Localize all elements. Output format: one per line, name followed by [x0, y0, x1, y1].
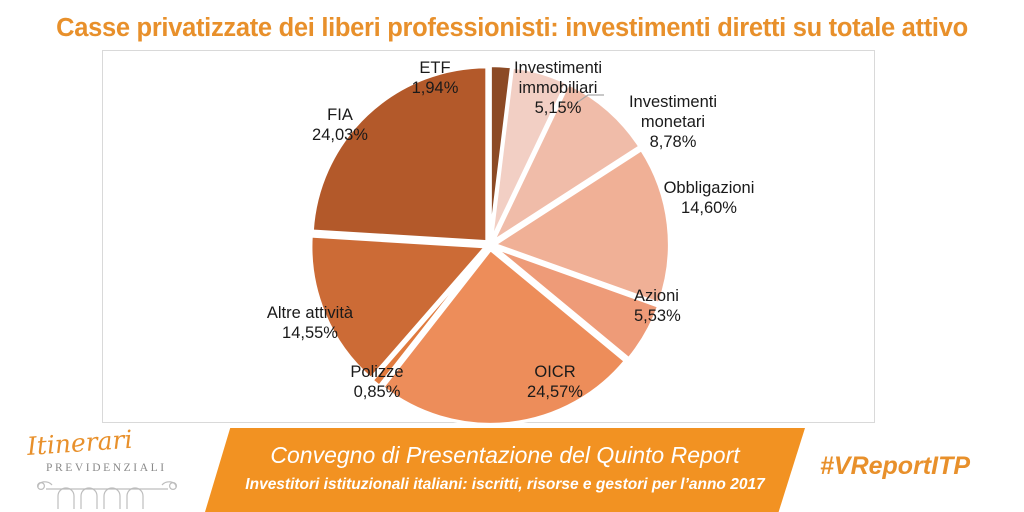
pie-label-obbligazioni-value: 14,60%	[638, 198, 780, 218]
banner-title: Convegno di Presentazione del Quinto Rep…	[205, 442, 805, 469]
logo-subtitle: PREVIDENZIALI	[46, 462, 167, 474]
pie-label-etf-name: ETF	[392, 58, 478, 78]
pie-label-polizze-value: 0,85%	[322, 382, 432, 402]
pie-label-oicr-value: 24,57%	[500, 382, 610, 402]
page-title: Casse privatizzate dei liberi profession…	[0, 14, 1024, 43]
pie-label-obbligazioni: Obbligazioni 14,60%	[638, 178, 780, 218]
pie-label-oicr: OICR 24,57%	[500, 362, 610, 402]
pie-label-fia-value: 24,03%	[288, 125, 392, 145]
logo-wordmark: Itinerari	[26, 425, 133, 461]
pie-label-azioni: Azioni 5,53%	[634, 286, 754, 326]
pie-label-investimenti-monetari: Investimenti monetari 8,78%	[598, 92, 748, 152]
event-hashtag: #VReportITP	[820, 452, 970, 481]
pie-label-azioni-value: 5,53%	[634, 306, 754, 326]
pie-label-fia-name: FIA	[288, 105, 392, 125]
pie-label-monetari-name2: monetari	[598, 112, 748, 132]
pie-label-fia: FIA 24,03%	[288, 105, 392, 145]
logo-colonnade-icon	[32, 478, 182, 510]
pie-label-polizze: Polizze 0,85%	[322, 362, 432, 402]
logo-itinerari-previdenziali: Itinerari PREVIDENZIALI	[22, 430, 190, 510]
pie-label-monetari-name1: Investimenti	[598, 92, 748, 112]
event-banner: Convegno di Presentazione del Quinto Rep…	[205, 428, 805, 512]
pie-label-azioni-name: Azioni	[634, 286, 754, 306]
pie-label-monetari-value: 8,78%	[598, 132, 748, 152]
pie-label-etf: ETF 1,94%	[392, 58, 478, 98]
pie-label-polizze-name: Polizze	[322, 362, 432, 382]
slide-root: Casse privatizzate dei liberi profession…	[0, 0, 1024, 512]
banner-subtitle: Investitori istituzionali italiani: iscr…	[205, 476, 805, 494]
pie-label-etf-value: 1,94%	[392, 78, 478, 98]
pie-label-immobiliari-name1: Investimenti	[478, 58, 638, 78]
pie-label-oicr-name: OICR	[500, 362, 610, 382]
pie-label-altre-name: Altre attività	[238, 303, 382, 323]
pie-label-altre-attivita: Altre attività 14,55%	[238, 303, 382, 343]
pie-label-obbligazioni-name: Obbligazioni	[638, 178, 780, 198]
pie-label-altre-value: 14,55%	[238, 323, 382, 343]
